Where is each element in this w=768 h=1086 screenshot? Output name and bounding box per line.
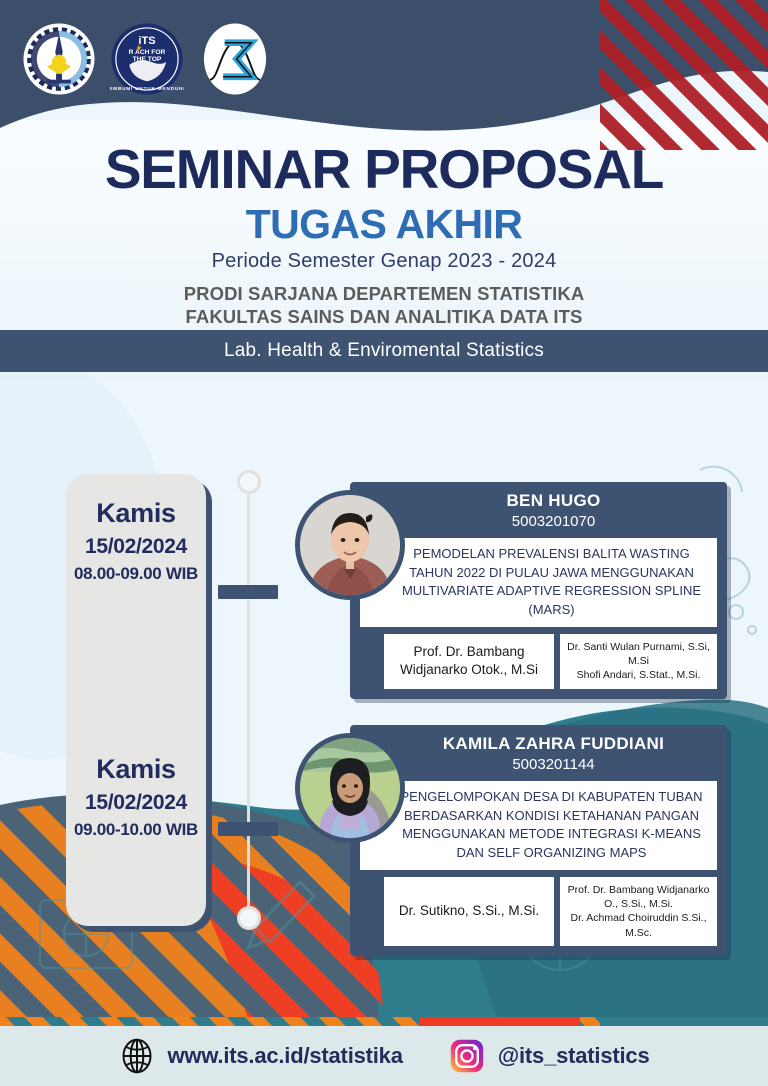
period-label: Periode Semester Genap 2023 - 2024 <box>0 250 768 273</box>
department-line-1: PRODI SARJANA DEPARTEMEN STATISTIKA <box>0 282 768 305</box>
poster-header: iTS R ACH FOR THE TOP MEMBUMI UNTUK MEND… <box>0 0 768 132</box>
presenter-name-1: BEN HUGO <box>360 490 717 511</box>
timeline <box>236 470 262 930</box>
schedule-time-2: 09.00-10.00 WIB <box>66 819 206 841</box>
logo-row: iTS R ACH FOR THE TOP MEMBUMI UNTUK MEND… <box>22 22 272 96</box>
examiner-box-2: Prof. Dr. Bambang Widjanarko O., S.Si., … <box>560 877 717 946</box>
timeline-marker-1 <box>218 585 278 599</box>
presenter-nrp-2: 5003201144 <box>360 755 717 775</box>
schedule-date-2: 15/02/2024 <box>66 789 206 817</box>
timeline-line <box>247 478 250 922</box>
website-label: www.its.ac.id/statistika <box>168 1043 403 1069</box>
presenter-nrp-1: 5003201070 <box>360 512 717 532</box>
instagram-icon <box>449 1038 485 1074</box>
svg-text:MEMBUMI UNTUK MENDUNIA: MEMBUMI UNTUK MENDUNIA <box>110 86 184 92</box>
website-item[interactable]: www.its.ac.id/statistika <box>119 1038 403 1074</box>
presenter-card-1: BEN HUGO 5003201070 PEMODELAN PREVALENSI… <box>295 482 727 699</box>
its-reach-for-the-top-logo: iTS R ACH FOR THE TOP MEMBUMI UNTUK MEND… <box>110 22 184 96</box>
department-line-2: FAKULTAS SAINS DAN ANALITIKA DATA ITS <box>0 305 768 328</box>
examiner-names-1: Dr. Santi Wulan Purnami, S.Si, M.Si Shof… <box>565 640 712 683</box>
presenter-advisors-1: Prof. Dr. Bambang Widjanarko Otok., M.Si… <box>360 634 717 689</box>
schedule-day-1: Kamis <box>66 498 206 529</box>
presenter-card-2: KAMILA ZAHRA FUDDIANI 5003201144 PENGELO… <box>295 725 727 956</box>
schedule-time-1: 08.00-09.00 WIB <box>66 563 206 585</box>
poster-root: iTS R ACH FOR THE TOP MEMBUMI UNTUK MEND… <box>0 0 768 1086</box>
presenter-card-1-body: BEN HUGO 5003201070 PEMODELAN PREVALENSI… <box>350 482 727 699</box>
globe-icon <box>119 1038 155 1074</box>
advisor-name-2: Dr. Sutikno, S.Si., M.Si. <box>399 902 539 920</box>
poster-footer: www.its.ac.id/statistika @its_statistics <box>0 1026 768 1086</box>
examiner-name-1a: Dr. Santi Wulan Purnami, S.Si, M.Si <box>565 640 712 668</box>
svg-text:iTS: iTS <box>138 35 155 47</box>
schedule-entry-2: Kamis 15/02/2024 09.00-10.00 WIB <box>66 754 206 841</box>
its-institute-logo <box>22 22 96 96</box>
presenter-photo-1 <box>295 490 405 600</box>
examiner-box-1: Dr. Santi Wulan Purnami, S.Si, M.Si Shof… <box>560 634 717 689</box>
presenter-card-2-body: KAMILA ZAHRA FUDDIANI 5003201144 PENGELO… <box>350 725 727 956</box>
timeline-dot-top <box>237 470 261 494</box>
advisor-name-1: Prof. Dr. Bambang Widjanarko Otok., M.Si <box>389 643 549 679</box>
timeline-dot-bottom <box>237 906 261 930</box>
schedule-entry-1: Kamis 15/02/2024 08.00-09.00 WIB <box>66 498 206 585</box>
presenter-title-2: PENGELOMPOKAN DESA DI KABUPATEN TUBAN BE… <box>360 781 717 870</box>
instagram-item[interactable]: @its_statistics <box>449 1038 650 1074</box>
title-block: SEMINAR PROPOSAL TUGAS AKHIR Periode Sem… <box>0 128 768 328</box>
lab-banner: Lab. Health & Enviromental Statistics <box>0 330 768 372</box>
presenter-title-1: PEMODELAN PREVALENSI BALITA WASTING TAHU… <box>360 538 717 627</box>
examiner-name-1b: Shofi Andari, S.Stat., M.Si. <box>565 668 712 682</box>
page-subtitle: TUGAS AKHIR <box>0 203 768 246</box>
advisor-box-2: Dr. Sutikno, S.Si., M.Si. <box>384 877 554 946</box>
presenter-photo-2 <box>295 733 405 843</box>
examiner-name-2a: Prof. Dr. Bambang Widjanarko O., S.Si., … <box>565 883 712 911</box>
examiner-name-2b: Dr. Achmad Choiruddin S.Si., M.Sc. <box>565 911 712 939</box>
examiner-names-2: Prof. Dr. Bambang Widjanarko O., S.Si., … <box>565 883 712 940</box>
presenter-name-2: KAMILA ZAHRA FUDDIANI <box>360 733 717 754</box>
svg-text:R ACH FOR: R ACH FOR <box>129 49 166 56</box>
instagram-label: @its_statistics <box>498 1043 650 1069</box>
schedule-day-2: Kamis <box>66 754 206 785</box>
page-title: SEMINAR PROPOSAL <box>0 128 768 197</box>
advisor-box-1: Prof. Dr. Bambang Widjanarko Otok., M.Si <box>384 634 554 689</box>
lab-banner-label: Lab. Health & Enviromental Statistics <box>224 340 544 362</box>
presenter-advisors-2: Dr. Sutikno, S.Si., M.Si. Prof. Dr. Bamb… <box>360 877 717 946</box>
schedule-date-1: 15/02/2024 <box>66 533 206 561</box>
schedule-panel: Kamis 15/02/2024 08.00-09.00 WIB Kamis 1… <box>66 474 206 926</box>
timeline-marker-2 <box>218 822 278 836</box>
statistics-sigma-logo <box>198 22 272 96</box>
